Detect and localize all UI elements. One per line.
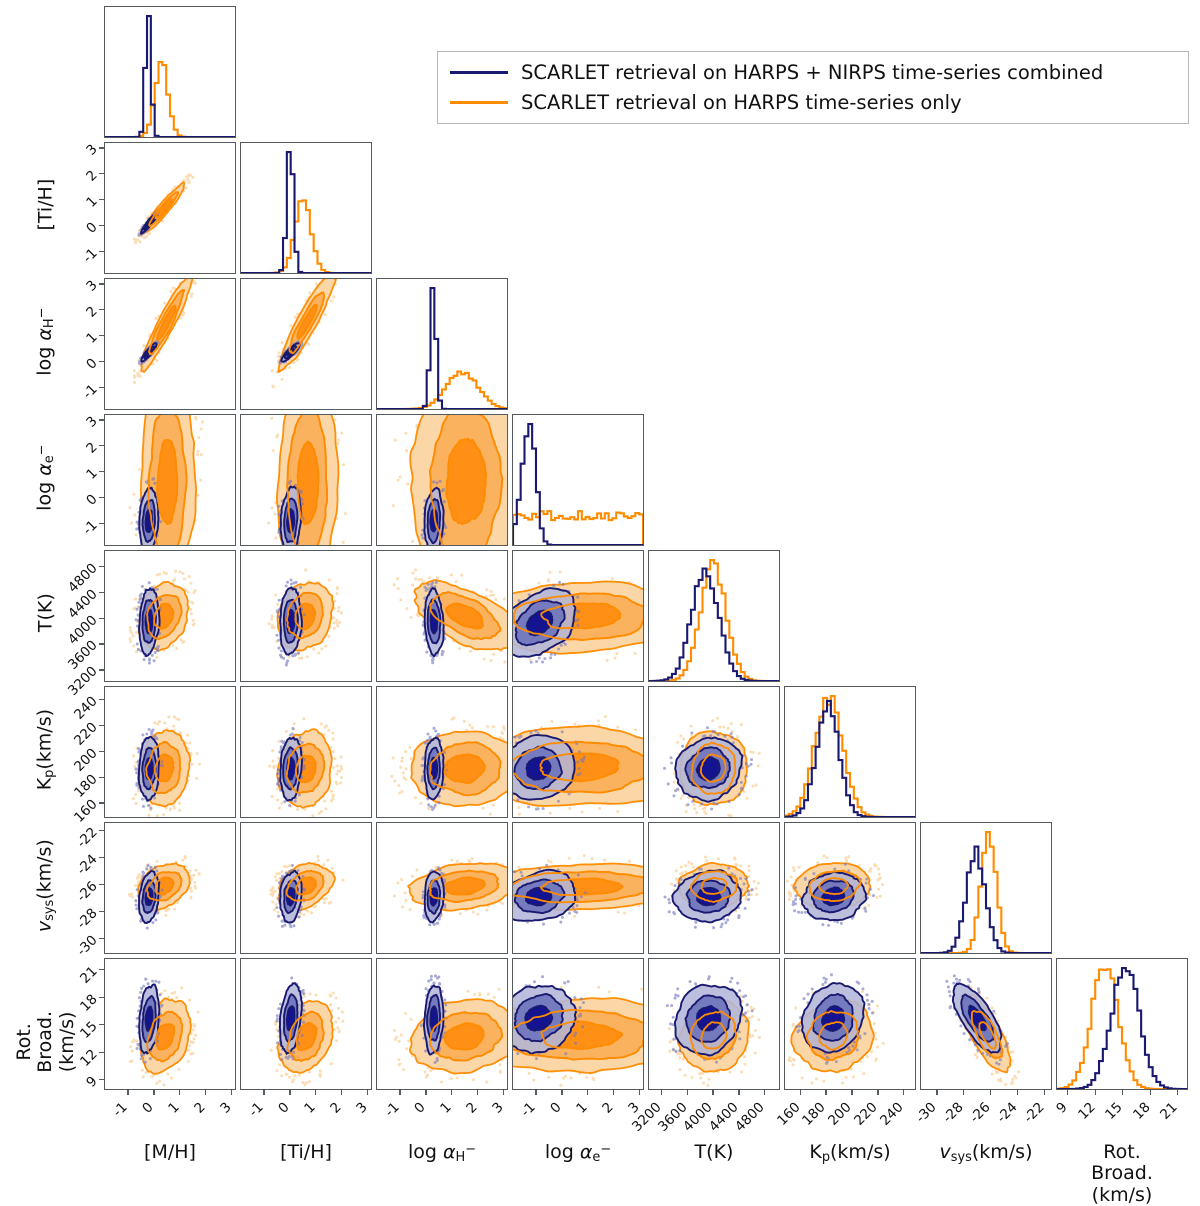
joint-panel-Kp-vsys: [784, 822, 916, 954]
xtick-T-0: [661, 1090, 662, 1095]
corner-plot-figure: -10123-10123-10123-10123-10123-10123-101…: [0, 0, 1200, 1201]
ytick-logae-1: [99, 497, 104, 498]
xtick-TiH-1: [289, 1090, 290, 1095]
yticklabel-TiH-4: 3: [83, 142, 100, 159]
xticklabel-logaH-0: -1: [382, 1099, 403, 1120]
yticklabel-logae-2: 1: [83, 465, 100, 482]
hist-curve-combined: [513, 424, 643, 545]
contours-harps: [268, 717, 343, 817]
joint-panel-MH-Kp: [104, 686, 236, 818]
xticklabel-rot-1: 12: [1075, 1099, 1098, 1122]
hist-curve-harps: [513, 511, 643, 545]
legend-label-harps: SCARLET retrieval on HARPS time-series o…: [521, 91, 962, 114]
ytick-logae-3: [99, 445, 104, 446]
xticklabel-T-4: 4800: [732, 1099, 768, 1135]
xtick-logae-1: [561, 1090, 562, 1095]
joint-panel-logae-rot: [512, 958, 644, 1090]
joint-panel-logae-Kp: [512, 686, 644, 818]
xtick-rot-3: [1150, 1090, 1151, 1095]
yticklabel-rot-3: 18: [77, 991, 100, 1014]
ytick-vsys-2: [99, 884, 104, 885]
ytick-rot-0: [99, 1079, 104, 1080]
xticklabel-logae-1: 0: [547, 1099, 564, 1116]
xticklabel-TiH-3: 2: [327, 1099, 344, 1116]
joint-panel-TiH-rot: [240, 958, 372, 1090]
yticklabel-logaH-1: 0: [83, 355, 100, 372]
joint-panel-TiH-T: [240, 550, 372, 682]
yticklabel-vsys-2: -26: [74, 878, 101, 905]
joint-panel-MH-vsys: [104, 822, 236, 954]
xaxis-label-Kp: Kp(km/s): [784, 1142, 916, 1165]
hist-curve-harps: [105, 62, 235, 137]
xtick-vsys-2: [990, 1090, 991, 1095]
xaxis-label-T: T(K): [648, 1142, 780, 1163]
ytick-T-2: [99, 618, 104, 619]
joint-panel-TiH-logaH: [240, 278, 372, 410]
hist-curve-combined: [105, 16, 235, 137]
xaxis-label-logae: log αe−: [512, 1142, 644, 1165]
yticklabel-logae-4: 3: [83, 414, 100, 431]
xtick-T-2: [712, 1090, 713, 1095]
ytick-vsys-4: [99, 830, 104, 831]
xticklabel-logaH-1: 0: [411, 1099, 428, 1116]
xticklabel-logae-0: -1: [518, 1099, 539, 1120]
legend-line-harps: [450, 101, 508, 104]
xtick-Kp-4: [903, 1090, 904, 1095]
xtick-TiH-0: [263, 1090, 264, 1095]
xtick-vsys-4: [1044, 1090, 1045, 1095]
ytick-TiH-4: [99, 147, 104, 148]
ytick-Kp-1: [99, 777, 104, 778]
xticklabel-MH-4: 3: [217, 1099, 234, 1116]
hist-curve-combined: [921, 847, 1051, 953]
xtick-Kp-3: [877, 1090, 878, 1095]
hist-panel-Kp: [784, 686, 916, 818]
xtick-vsys-0: [936, 1090, 937, 1095]
ytick-Kp-0: [99, 802, 104, 803]
xtick-logae-0: [535, 1090, 536, 1095]
xticklabel-rot-0: 9: [1053, 1099, 1070, 1116]
xtick-MH-0: [127, 1090, 128, 1095]
xaxis-label-MH: [M/H]: [104, 1142, 236, 1163]
joint-panel-logaH-logae: [376, 414, 508, 546]
xticklabel-vsys-0: -30: [913, 1099, 940, 1126]
xtick-rot-1: [1095, 1090, 1096, 1095]
joint-panel-MH-TiH: [104, 142, 236, 274]
xticklabel-vsys-4: -22: [1021, 1099, 1048, 1126]
xticklabel-vsys-1: -28: [940, 1099, 967, 1126]
xticklabel-MH-2: 1: [165, 1099, 182, 1116]
xtick-T-1: [687, 1090, 688, 1095]
joint-panel-logaH-Kp: [376, 686, 508, 818]
joint-panel-T-rot: [648, 958, 780, 1090]
xtick-logaH-3: [477, 1090, 478, 1095]
hist-panel-TiH: [240, 142, 372, 274]
xtick-vsys-1: [963, 1090, 964, 1095]
yticklabel-rot-1: 12: [77, 1046, 100, 1069]
yticklabel-vsys-3: -24: [74, 851, 101, 878]
xtick-MH-3: [205, 1090, 206, 1095]
xticklabel-Kp-1: 180: [800, 1099, 830, 1129]
xticklabel-TiH-0: -1: [246, 1099, 267, 1120]
ytick-logaH-4: [99, 283, 104, 284]
yticklabel-vsys-4: -22: [74, 824, 101, 851]
hist-panel-rot: [1056, 958, 1188, 1090]
xtick-logaH-2: [451, 1090, 452, 1095]
yticklabel-TiH-0: -1: [80, 245, 101, 266]
xticklabel-logaH-4: 3: [489, 1099, 506, 1116]
yticklabel-TiH-3: 2: [83, 167, 100, 184]
ytick-vsys-0: [99, 938, 104, 939]
joint-panel-logaH-vsys: [376, 822, 508, 954]
joint-panel-TiH-Kp: [240, 686, 372, 818]
xticklabel-rot-4: 21: [1157, 1099, 1180, 1122]
xticklabel-logae-3: 2: [599, 1099, 616, 1116]
xticklabel-rot-3: 18: [1130, 1099, 1153, 1122]
xtick-TiH-2: [315, 1090, 316, 1095]
ytick-vsys-1: [99, 911, 104, 912]
hist-panel-MH: [104, 6, 236, 138]
xtick-vsys-3: [1017, 1090, 1018, 1095]
yticklabel-vsys-1: -28: [74, 905, 101, 932]
joint-panel-logaH-rot: [376, 958, 508, 1090]
legend-line-combined: [450, 71, 508, 74]
xticklabel-MH-1: 0: [139, 1099, 156, 1116]
xtick-MH-2: [179, 1090, 180, 1095]
yticklabel-T-0: 3200: [65, 663, 101, 699]
xtick-logaH-4: [503, 1090, 504, 1095]
xtick-logae-2: [587, 1090, 588, 1095]
yticklabel-logaH-0: -1: [80, 381, 101, 402]
yticklabel-vsys-0: -30: [74, 932, 101, 959]
xticklabel-logae-2: 1: [573, 1099, 590, 1116]
contours-harps: [393, 857, 507, 917]
xticklabel-TiH-2: 1: [301, 1099, 318, 1116]
ytick-TiH-1: [99, 225, 104, 226]
contours-harps: [267, 415, 347, 545]
ytick-rot-2: [99, 1024, 104, 1025]
legend-label-combined: SCARLET retrieval on HARPS + NIRPS time-…: [521, 61, 1103, 84]
ytick-logaH-2: [99, 335, 104, 336]
ytick-logaH-1: [99, 361, 104, 362]
legend-entry-harps: SCARLET retrieval on HARPS time-series o…: [450, 91, 1174, 114]
xticklabel-logaH-2: 1: [437, 1099, 454, 1116]
yticklabel-Kp-1: 180: [71, 771, 101, 801]
joint-panel-logae-vsys: [512, 822, 644, 954]
ytick-rot-1: [99, 1052, 104, 1053]
joint-panel-TiH-vsys: [240, 822, 372, 954]
ytick-logaH-0: [99, 387, 104, 388]
ytick-Kp-3: [99, 725, 104, 726]
xaxis-label-TiH: [Ti/H]: [240, 1142, 372, 1163]
ytick-Kp-2: [99, 751, 104, 752]
yaxis-label-logae: log αe−: [34, 412, 57, 544]
yaxis-label-TiH: [Ti/H]: [35, 139, 56, 271]
joint-panel-MH-logae: [104, 414, 236, 546]
yticklabel-logaH-2: 1: [83, 329, 100, 346]
joint-panel-Kp-rot: [784, 958, 916, 1090]
xtick-T-3: [738, 1090, 739, 1095]
xticklabel-Kp-0: 160: [774, 1099, 804, 1129]
ytick-T-4: [99, 566, 104, 567]
yaxis-label-Kp: Kp(km/s): [34, 684, 57, 816]
contours-harps: [393, 988, 507, 1084]
xticklabel-T-3: 4400: [706, 1099, 742, 1135]
xticklabel-Kp-2: 200: [825, 1099, 855, 1129]
joint-panel-T-Kp: [648, 686, 780, 818]
yticklabel-Kp-3: 220: [71, 719, 101, 749]
ytick-T-1: [99, 643, 104, 644]
xticklabel-TiH-4: 3: [353, 1099, 370, 1116]
xtick-rot-2: [1122, 1090, 1123, 1095]
ytick-rot-3: [99, 997, 104, 998]
xtick-logaH-1: [425, 1090, 426, 1095]
xticklabel-logaH-3: 2: [463, 1099, 480, 1116]
yticklabel-rot-2: 15: [77, 1018, 100, 1041]
ytick-rot-4: [99, 969, 104, 970]
yticklabel-TiH-2: 1: [83, 193, 100, 210]
xaxis-label-logaH: log αH−: [376, 1142, 508, 1165]
yticklabel-logae-3: 2: [83, 439, 100, 456]
ytick-TiH-2: [99, 199, 104, 200]
joint-panel-logaH-T: [376, 550, 508, 682]
ytick-logae-4: [99, 419, 104, 420]
xaxis-label-vsys: vsys(km/s): [920, 1142, 1052, 1165]
yticklabel-logaH-4: 3: [83, 278, 100, 295]
legend: SCARLET retrieval on HARPS + NIRPS time-…: [437, 51, 1189, 124]
xtick-rot-0: [1067, 1090, 1068, 1095]
ytick-logae-2: [99, 471, 104, 472]
hist-curve-harps: [1057, 969, 1187, 1089]
xticklabel-rot-2: 15: [1102, 1099, 1125, 1122]
ytick-logaH-3: [99, 309, 104, 310]
joint-panel-MH-logaH: [104, 278, 236, 410]
yticklabel-rot-4: 21: [77, 963, 100, 986]
yaxis-label-logaH: log αH−: [34, 276, 57, 408]
yaxis-label-vsys: vsys(km/s): [34, 820, 57, 952]
joint-panel-TiH-logae: [240, 414, 372, 546]
yticklabel-T-3: 4400: [65, 586, 101, 622]
xticklabel-MH-0: -1: [110, 1099, 131, 1120]
xtick-logae-4: [639, 1090, 640, 1095]
xtick-MH-4: [231, 1090, 232, 1095]
joint-panel-T-vsys: [648, 822, 780, 954]
joint-panel-logae-T: [512, 550, 644, 682]
xtick-logae-3: [613, 1090, 614, 1095]
ytick-TiH-0: [99, 251, 104, 252]
hist-curve-combined: [241, 152, 371, 273]
ytick-T-0: [99, 669, 104, 670]
xtick-Kp-1: [825, 1090, 826, 1095]
xtick-MH-1: [153, 1090, 154, 1095]
yticklabel-rot-0: 9: [83, 1073, 100, 1090]
xtick-Kp-0: [800, 1090, 801, 1095]
joint-panel-vsys-rot: [920, 958, 1052, 1090]
yaxis-label-T: T(K): [35, 547, 56, 679]
xtick-T-4: [764, 1090, 765, 1095]
hist-curve-harps: [649, 560, 779, 681]
xtick-Kp-2: [851, 1090, 852, 1095]
yticklabel-logaH-3: 2: [83, 303, 100, 320]
xtick-TiH-3: [341, 1090, 342, 1095]
contours-combined: [663, 726, 753, 810]
xticklabel-Kp-3: 220: [851, 1099, 881, 1129]
xticklabel-vsys-2: -26: [967, 1099, 994, 1126]
xaxis-label-rot: Rot.Broad.(km/s): [1056, 1142, 1188, 1206]
contours-harps: [392, 415, 507, 545]
yticklabel-Kp-0: 160: [71, 797, 101, 827]
ytick-vsys-3: [99, 857, 104, 858]
hist-curve-combined: [649, 569, 779, 681]
hist-panel-logaH: [376, 278, 508, 410]
contours-harps: [390, 716, 507, 815]
legend-entry-combined: SCARLET retrieval on HARPS + NIRPS time-…: [450, 61, 1174, 84]
xticklabel-MH-3: 2: [191, 1099, 208, 1116]
yticklabel-TiH-1: 0: [83, 219, 100, 236]
joint-panel-MH-T: [104, 550, 236, 682]
yticklabel-T-4: 4800: [65, 560, 101, 596]
hist-panel-vsys: [920, 822, 1052, 954]
xtick-rot-4: [1177, 1090, 1178, 1095]
yticklabel-logae-0: -1: [80, 517, 101, 538]
hist-curve-harps: [241, 200, 371, 273]
ytick-Kp-4: [99, 699, 104, 700]
xtick-TiH-4: [367, 1090, 368, 1095]
hist-panel-logae: [512, 414, 644, 546]
hist-curve-combined: [785, 701, 915, 817]
yticklabel-logae-1: 0: [83, 491, 100, 508]
xtick-logaH-0: [399, 1090, 400, 1095]
hist-panel-T: [648, 550, 780, 682]
ytick-logae-0: [99, 523, 104, 524]
xticklabel-TiH-1: 0: [275, 1099, 292, 1116]
ytick-TiH-3: [99, 173, 104, 174]
xticklabel-Kp-4: 240: [877, 1099, 907, 1129]
yticklabel-Kp-2: 200: [71, 745, 101, 775]
yaxis-label-rot: Rot.Broad.(km/s): [14, 976, 78, 1108]
joint-panel-MH-rot: [104, 958, 236, 1090]
xticklabel-vsys-3: -24: [994, 1099, 1021, 1126]
ytick-T-3: [99, 592, 104, 593]
